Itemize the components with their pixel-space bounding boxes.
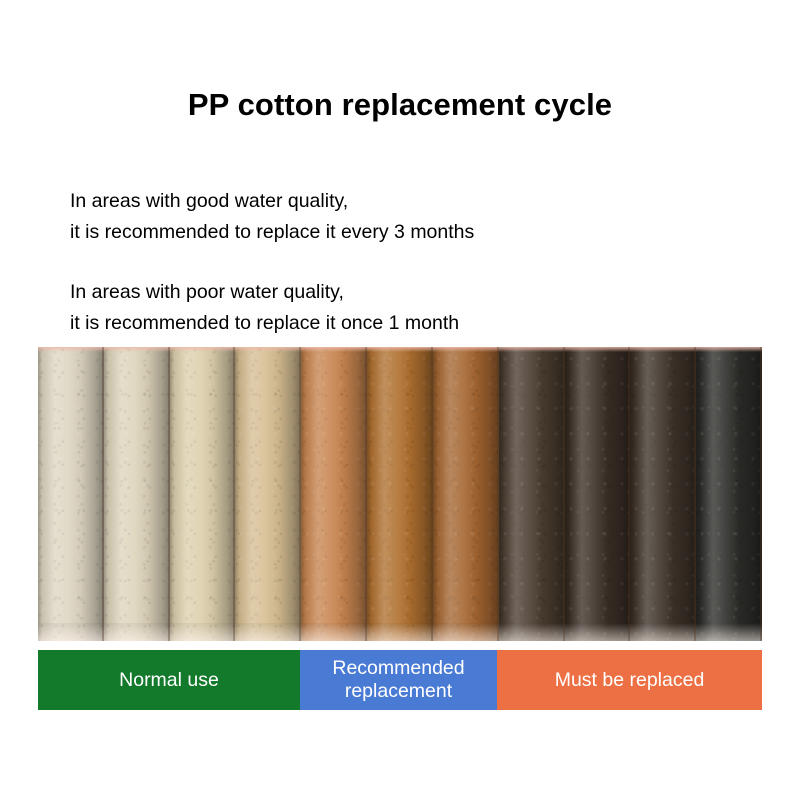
filter-cartridge-4: [235, 347, 301, 641]
filter-cartridge-9: [565, 347, 631, 641]
cartridge-body: [104, 347, 170, 641]
page-title: PP cotton replacement cycle: [0, 86, 800, 124]
cartridge-body: [630, 347, 696, 641]
cartridge-body: [367, 347, 433, 641]
poor-water-line-2: it is recommended to replace it once 1 m…: [70, 308, 459, 339]
cartridge-body: [696, 347, 762, 641]
filter-cartridge-2: [104, 347, 170, 641]
poor-water-paragraph: In areas with poor water quality, it is …: [70, 277, 459, 339]
legend-segment-recommended: Recommended replacement: [300, 650, 497, 710]
filter-cartridge-3: [170, 347, 236, 641]
cartridge-body: [565, 347, 631, 641]
poor-water-line-1: In areas with poor water quality,: [70, 277, 459, 308]
cartridge-body: [38, 347, 104, 641]
filter-cartridge-1: [38, 347, 104, 641]
cartridge-body: [301, 347, 367, 641]
filter-cartridge-8: [499, 347, 565, 641]
good-water-line-1: In areas with good water quality,: [70, 186, 474, 217]
cartridge-body: [499, 347, 565, 641]
legend-segment-must: Must be replaced: [497, 650, 762, 710]
good-water-line-2: it is recommended to replace it every 3 …: [70, 217, 474, 248]
good-water-paragraph: In areas with good water quality, it is …: [70, 186, 474, 248]
filter-cartridge-photo: [38, 347, 762, 641]
filter-cartridge-10: [630, 347, 696, 641]
legend-segment-normal: Normal use: [38, 650, 300, 710]
condition-legend-bar: Normal useRecommended replacementMust be…: [38, 650, 762, 710]
cartridge-body: [170, 347, 236, 641]
cartridge-body: [433, 347, 499, 641]
filter-cartridge-7: [433, 347, 499, 641]
infographic-page: PP cotton replacement cycle In areas wit…: [0, 0, 800, 800]
filter-cartridge-6: [367, 347, 433, 641]
filter-cartridge-5: [301, 347, 367, 641]
filter-cartridge-11: [696, 347, 762, 641]
cartridge-body: [235, 347, 301, 641]
